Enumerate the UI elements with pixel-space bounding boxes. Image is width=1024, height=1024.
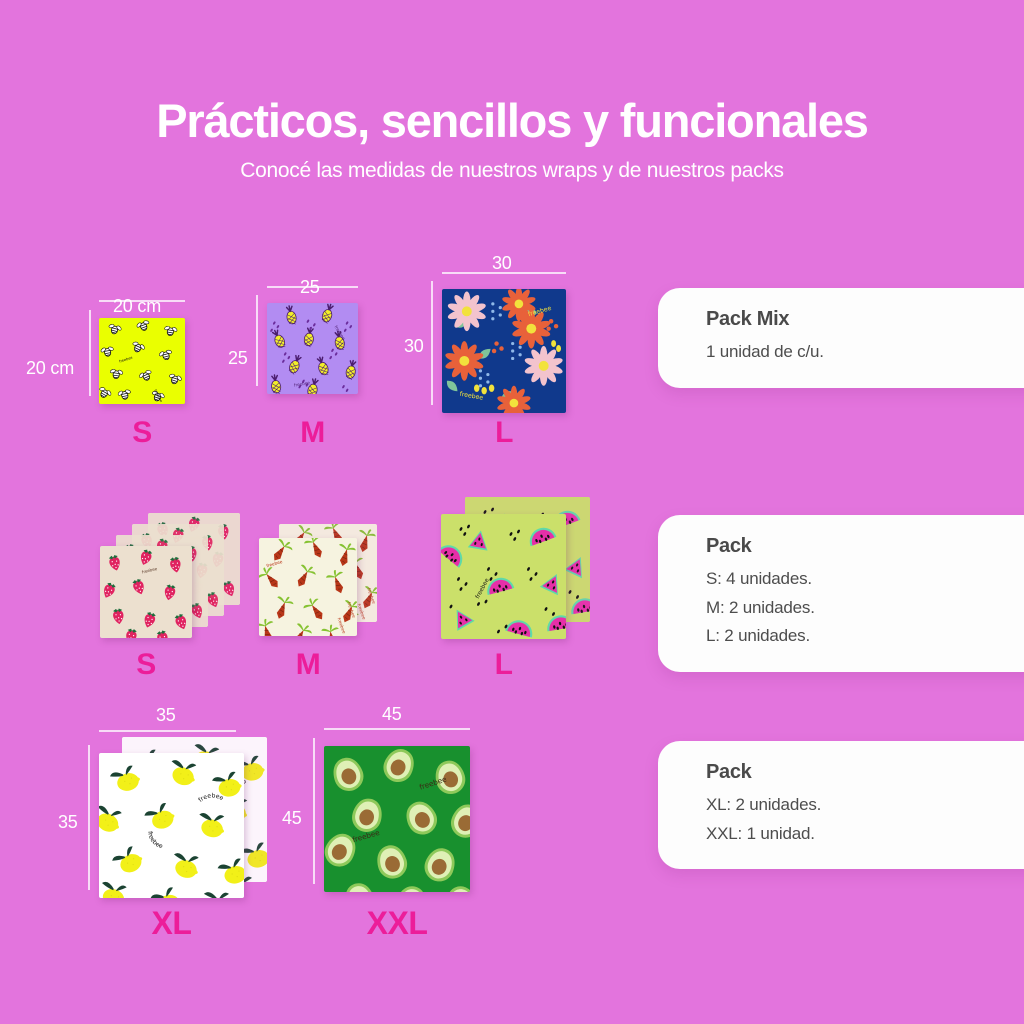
wrap-sheet-front-lemons: freebeefreebee [99,753,244,898]
wrap-size-label: M [267,416,358,450]
pack-card[interactable]: Pack Mix 1 unidad de c/u. [658,288,1024,388]
dimension-label-width: 35 [156,705,176,726]
dimension-label-width: 25 [300,277,320,298]
wrap-sheet-front-flowers: freebeefreebee [442,289,566,413]
dimension-label-height: 35 [58,812,78,833]
wrap-sheet-front-pineapples: freebeefreebee [267,303,358,394]
wrap-size-label: L [441,648,566,682]
pack-card-title: Pack Mix [706,308,1024,331]
dimension-label-width: 20 cm [113,296,161,317]
header: Prácticos, sencillos y funcionales Conoc… [0,96,1024,183]
wrap-item-s-row1[interactable]: freebeefreebee [99,310,185,396]
pack-card-line: XL: 2 unidades. [706,792,1024,818]
pack-card-title: Pack [706,535,1024,558]
dimension-line-vertical [89,310,91,396]
dimension-line-vertical [256,295,258,386]
pack-card-line: L: 2 unidades. [706,623,1024,649]
dimension-label-height: 30 [404,336,424,357]
pack-card[interactable]: Pack S: 4 unidades. M: 2 unidades. L: 2 … [658,515,1024,672]
wrap-item-s-row2[interactable]: freebeefreebeefreebeefreebee [100,538,240,630]
wrap-size-label: XXL [324,905,470,942]
wrap-item-l-row2[interactable]: freebeefreebee [441,506,590,631]
dimension-line-vertical [431,281,433,405]
wrap-sheet-front-carrots: freebeefreebeefreebee [259,538,357,636]
dimension-label-height: 25 [228,348,248,369]
pack-card-line: XXL: 1 unidad. [706,821,1024,847]
dimension-line-vertical [313,738,315,884]
wrap-item-m-row2[interactable]: freebeefreebeefreebeefreebeefreebeefreeb… [259,530,377,628]
pack-card-title: Pack [706,761,1024,784]
wrap-size-label: M [259,648,357,682]
dimension-label-width: 45 [382,704,402,725]
wrap-sheet-front-bees: freebeefreebee [99,318,185,404]
pack-card-line: 1 unidad de c/u. [706,339,1024,365]
dimension-line-horizontal [99,730,236,732]
dimension-label-height: 20 cm [26,358,74,379]
wrap-sheet-front-avocados: freebeefreebee [324,746,470,892]
wrap-size-label: S [99,416,185,450]
wrap-size-label: L [442,416,566,450]
wrap-size-label: S [100,648,192,682]
pack-card-line: M: 2 unidades. [706,595,1024,621]
page-title: Prácticos, sencillos y funcionales [0,96,1024,145]
dimension-label-width: 30 [492,253,512,274]
pack-card[interactable]: Pack XL: 2 unidades. XXL: 1 unidad. [658,741,1024,869]
wrap-item-m-row1[interactable]: freebeefreebee [267,295,358,386]
dimension-label-height: 45 [282,808,302,829]
dimension-line-horizontal [324,728,470,730]
wrap-sheet-front-watermelons: freebee [441,514,566,639]
wrap-item-l-row1[interactable]: freebeefreebee [442,281,566,405]
dimension-line-vertical [88,745,90,890]
pack-card-line: S: 4 unidades. [706,566,1024,592]
page-subtitle: Conocé las medidas de nuestros wraps y d… [0,159,1024,183]
wrap-item-xl-row3[interactable]: freebeefreebeefreebeefreebee [99,745,267,890]
wrap-item-xxl-row3[interactable]: freebeefreebee [324,738,470,884]
wrap-size-label: XL [99,905,244,942]
wrap-sheet-front-strawberries: freebee [100,546,192,638]
